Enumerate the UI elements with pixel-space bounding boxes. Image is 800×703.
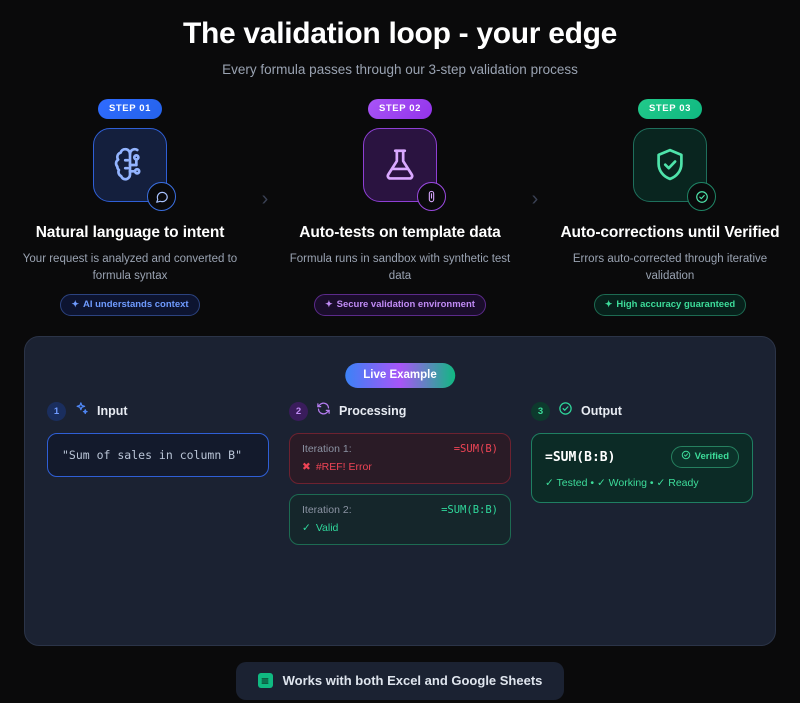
step-tag-3: ✦ High accuracy guaranteed — [594, 294, 746, 316]
step-card-2[interactable]: STEP 02 Auto-tests on template data Form… — [281, 99, 519, 316]
verified-badge-label: Verified — [695, 451, 729, 462]
steps-row: STEP 01 Natural langua — [0, 99, 800, 316]
input-label: Input — [97, 404, 128, 418]
iteration-2-code: =SUM(B:B) — [441, 504, 498, 516]
step-tag-1: ✦ AI understands context — [60, 294, 199, 316]
step-badge-1: STEP 01 — [98, 99, 162, 119]
step-badge-3: STEP 03 — [638, 99, 702, 119]
output-label: Output — [581, 404, 622, 418]
output-checks: ✓ Tested • ✓ Working • ✓ Ready — [545, 477, 739, 489]
cross-icon: ✖ — [302, 461, 311, 473]
step-icon-wrap-1 — [93, 128, 167, 202]
processing-header: 2 Processing — [289, 401, 511, 421]
message-square-icon — [147, 182, 176, 211]
input-step-number: 1 — [47, 402, 66, 421]
iteration-card-1: Iteration 1: =SUM(B) ✖ #REF! Error — [289, 433, 511, 484]
check-circle-icon — [681, 450, 691, 463]
verified-badge: Verified — [671, 446, 739, 468]
iteration-1-code: =SUM(B) — [454, 443, 498, 455]
iteration-2-status: ✓ Valid — [302, 522, 498, 534]
sparkles-icon — [74, 401, 89, 421]
step-title-3: Auto-corrections until Verified — [560, 224, 779, 242]
processing-label: Processing — [339, 404, 406, 418]
chevron-right-icon-1: › — [249, 189, 281, 209]
step-title-1: Natural language to intent — [36, 224, 225, 242]
check-icon: ✓ — [302, 522, 311, 534]
compatibility-label: Works with both Excel and Google Sheets — [283, 673, 543, 688]
chevron-right-icon-2: › — [519, 189, 551, 209]
sparkle-icon: ✦ — [71, 300, 79, 309]
step-tag-2: ✦ Secure validation environment — [314, 294, 486, 316]
refresh-cw-icon — [316, 401, 331, 421]
sparkle-icon: ✦ — [325, 300, 333, 309]
check-circle-icon — [687, 182, 716, 211]
example-columns: 1 Input "Sum of sales in column B" 2 — [47, 401, 753, 555]
live-example-badge: Live Example — [345, 363, 455, 388]
step-tag-label-3: High accuracy guaranteed — [616, 299, 735, 310]
processing-column: 2 Processing Iteration 1: =SUM(B) — [289, 401, 511, 555]
output-column: 3 Output =SUM(B:B) — [531, 401, 753, 555]
step-badge-2: STEP 02 — [368, 99, 432, 119]
output-formula: =SUM(B:B) — [545, 450, 615, 465]
sparkle-icon: ✦ — [605, 300, 613, 309]
step-desc-1: Your request is analyzed and converted t… — [18, 251, 243, 284]
step-desc-2: Formula runs in sandbox with synthetic t… — [288, 251, 513, 284]
iteration-1-status-text: #REF! Error — [316, 461, 372, 473]
iteration-1-label: Iteration 1: — [302, 443, 352, 455]
step-title-2: Auto-tests on template data — [299, 224, 500, 242]
output-step-number: 3 — [531, 402, 550, 421]
input-query-box[interactable]: "Sum of sales in column B" — [47, 433, 269, 477]
iteration-1-status: ✖ #REF! Error — [302, 461, 498, 473]
output-header: 3 Output — [531, 401, 753, 421]
output-result-box: =SUM(B:B) Verified ✓ Tested • ✓ Working … — [531, 433, 753, 503]
footer-row: Works with both Excel and Google Sheets — [0, 662, 800, 700]
step-tag-label-2: Secure validation environment — [337, 299, 475, 310]
step-desc-3: Errors auto-corrected through iterative … — [558, 251, 783, 284]
output-top-row: =SUM(B:B) Verified — [545, 446, 739, 468]
page-subtitle: Every formula passes through our 3-step … — [0, 51, 800, 77]
step-icon-wrap-2 — [363, 128, 437, 202]
input-column: 1 Input "Sum of sales in column B" — [47, 401, 269, 555]
test-tube-icon — [417, 182, 446, 211]
iteration-card-2: Iteration 2: =SUM(B:B) ✓ Valid — [289, 494, 511, 545]
iteration-1-top: Iteration 1: =SUM(B) — [302, 443, 498, 455]
compatibility-badge[interactable]: Works with both Excel and Google Sheets — [236, 662, 565, 700]
step-tag-label-1: AI understands context — [83, 299, 189, 310]
check-circle-icon — [558, 401, 573, 421]
step-card-1[interactable]: STEP 01 Natural langua — [11, 99, 249, 316]
step-card-3[interactable]: STEP 03 Auto-corrections until Verified … — [551, 99, 789, 316]
live-example-panel: Live Example 1 Input "Sum of sales in co… — [24, 336, 776, 646]
iteration-2-status-text: Valid — [316, 522, 339, 534]
iteration-2-label: Iteration 2: — [302, 504, 352, 516]
processing-step-number: 2 — [289, 402, 308, 421]
iteration-2-top: Iteration 2: =SUM(B:B) — [302, 504, 498, 516]
validation-loop-page: The validation loop - your edge Every fo… — [0, 0, 800, 703]
step-icon-wrap-3 — [633, 128, 707, 202]
input-header: 1 Input — [47, 401, 269, 421]
spreadsheet-icon — [258, 673, 273, 688]
page-title: The validation loop - your edge — [0, 0, 800, 51]
